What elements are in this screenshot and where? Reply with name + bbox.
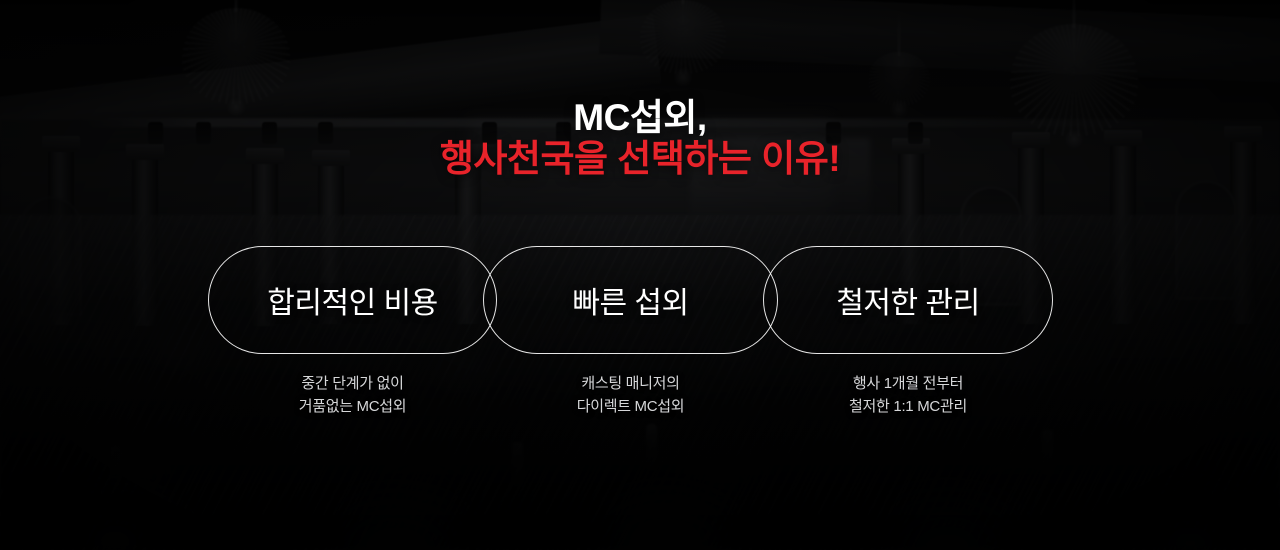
feature-pill-label: 빠른 섭외 (572, 278, 688, 322)
headline: MC섭외, 행사천국을 선택하는 이유! (0, 97, 1280, 180)
caption-line-1: 캐스팅 매니저의 (483, 372, 778, 395)
feature-caption-cost: 중간 단계가 없이 거품없는 MC섭외 (208, 372, 497, 419)
caption-line-2: 거품없는 MC섭외 (208, 395, 497, 418)
feature-pill-label: 철저한 관리 (836, 278, 979, 322)
caption-line-2: 다이렉트 MC섭외 (483, 395, 778, 418)
caption-line-1: 행사 1개월 전부터 (763, 372, 1053, 395)
feature-pill-cost[interactable]: 합리적인 비용 (208, 246, 497, 354)
feature-pill-group: 합리적인 비용 빠른 섭외 철저한 관리 (0, 246, 1280, 354)
feature-pill-management[interactable]: 철저한 관리 (763, 246, 1053, 354)
banner-content: MC섭외, 행사천국을 선택하는 이유! 합리적인 비용 빠른 섭외 철저한 관… (0, 0, 1280, 550)
headline-line-2: 행사천국을 선택하는 이유! (0, 138, 1280, 179)
feature-caption-group: 중간 단계가 없이 거품없는 MC섭외 캐스팅 매니저의 다이렉트 MC섭외 행… (0, 372, 1280, 432)
headline-line-1: MC섭외, (0, 97, 1280, 138)
feature-caption-management: 행사 1개월 전부터 철저한 1:1 MC관리 (763, 372, 1053, 419)
feature-pill-speed[interactable]: 빠른 섭외 (483, 246, 778, 354)
caption-line-1: 중간 단계가 없이 (208, 372, 497, 395)
feature-pill-label: 합리적인 비용 (267, 278, 437, 322)
feature-caption-speed: 캐스팅 매니저의 다이렉트 MC섭외 (483, 372, 778, 419)
promo-banner: MC섭외, 행사천국을 선택하는 이유! 합리적인 비용 빠른 섭외 철저한 관… (0, 0, 1280, 550)
caption-line-2: 철저한 1:1 MC관리 (763, 395, 1053, 418)
